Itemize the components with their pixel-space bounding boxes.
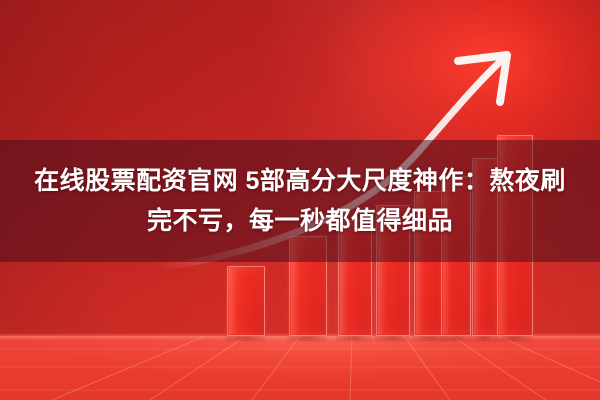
- caption-overlay-band: 在线股票配资官网 5部高分大尺度神作：熬夜刷 完不亏，每一秒都值得细品: [0, 140, 600, 262]
- promo-banner: 在线股票配资官网 5部高分大尺度神作：熬夜刷 完不亏，每一秒都值得细品: [0, 0, 600, 400]
- floor-grid-lines: [0, 336, 600, 400]
- caption-line-2: 完不亏，每一秒都值得细品: [147, 201, 453, 241]
- perspective-floor: [0, 336, 600, 400]
- caption-line-1: 在线股票配资官网 5部高分大尺度神作：熬夜刷: [34, 161, 566, 201]
